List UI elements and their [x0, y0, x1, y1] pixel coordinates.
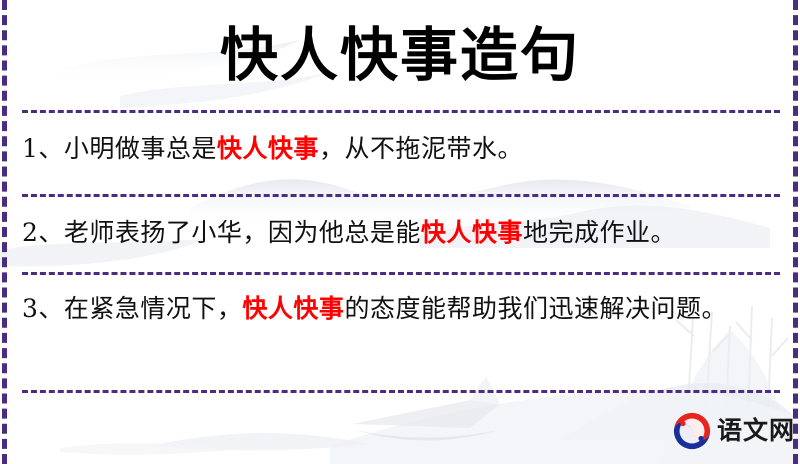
sentence-2-part-after: 地完成作业。 — [523, 218, 676, 247]
sentence-1-part-after: ，从不拖泥带水。 — [319, 134, 523, 163]
separator-rule-2 — [22, 194, 780, 197]
sentence-1-part-before: 1、小明做事总是 — [22, 134, 217, 163]
site-logo-text: 语文网 — [717, 417, 795, 445]
page-title: 快人快事造句 — [0, 20, 800, 90]
separator-rule-1 — [22, 110, 780, 113]
frame-left-dashed-rule — [2, 0, 7, 464]
sentence-1-highlight-term: 快人快事 — [217, 134, 319, 163]
sentence-2-highlight-term: 快人快事 — [421, 218, 523, 247]
frame-right-dashed-rule — [793, 0, 798, 464]
sentence-3-highlight-term: 快人快事 — [242, 294, 344, 323]
example-sentence-2: 2、老师表扬了小华，因为他总是能快人快事地完成作业。 — [22, 212, 766, 254]
example-sentence-1: 1、小明做事总是快人快事，从不拖泥带水。 — [22, 128, 766, 170]
separator-rule-4 — [22, 390, 780, 393]
site-logo[interactable]: 语文网 — [672, 408, 788, 454]
sentence-3-part-after: 的态度能帮助我们迅速解决问题。 — [344, 294, 727, 323]
example-sentence-3: 3、在紧急情况下，快人快事的态度能帮助我们迅速解决问题。 — [22, 288, 766, 330]
separator-rule-3 — [22, 272, 780, 275]
worksheet-page: 快人快事造句 1、小明做事总是快人快事，从不拖泥带水。 2、老师表扬了小华，因为… — [0, 0, 800, 464]
yinyang-fish-logo-icon — [672, 411, 712, 451]
sentence-2-part-before: 2、老师表扬了小华，因为他总是能 — [22, 218, 421, 247]
sentence-3-part-before: 3、在紧急情况下， — [22, 294, 242, 323]
